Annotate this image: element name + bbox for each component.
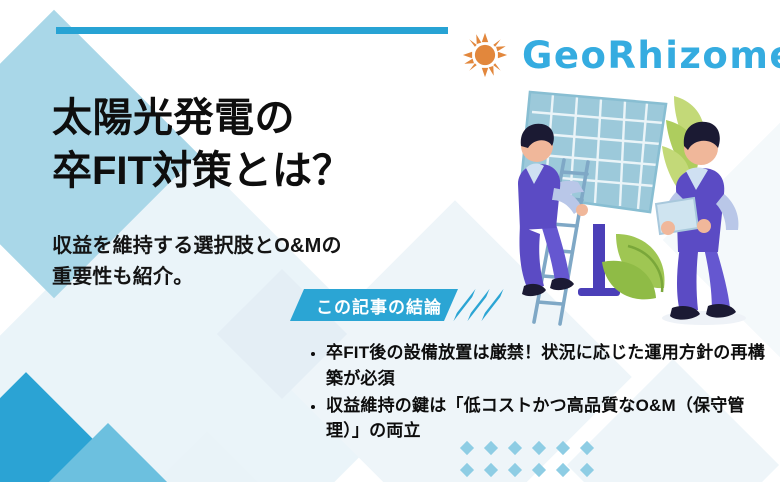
badge-slash-icon: [468, 289, 490, 321]
sun-icon: [462, 32, 508, 78]
conclusion-badge-label: この記事の結論: [290, 289, 458, 321]
decor-dot: [580, 441, 594, 455]
decor-dot: [532, 441, 546, 455]
badge-slash-icon: [454, 289, 476, 321]
page-title: 太陽光発電の 卒FIT対策とは？: [52, 92, 352, 198]
list-item: 収益維持の鍵は「低コストかつ高品質なO&M（保守管理）」の両立: [326, 393, 768, 445]
decor-dot: [556, 441, 570, 455]
page-title-line1: 太陽光発電の: [52, 92, 352, 145]
decor-dot-grid: [462, 443, 606, 482]
slide-canvas: GeoRhizome 太陽光発電の 卒FIT対策とは？ 収益を維持する選択肢とO…: [0, 0, 780, 482]
decor-diamond-mid-bottomleft: [43, 423, 173, 482]
decor-dot: [484, 441, 498, 455]
brand-logo: GeoRhizome: [462, 32, 780, 78]
decor-dot: [556, 463, 570, 477]
conclusion-list: 卒FIT後の設備放置は厳禁！状況に応じた運用方針の再構築が必須 収益維持の鍵は「…: [306, 340, 768, 445]
header-rule: [56, 27, 448, 34]
decor-diamond-strong-bottomleft: [0, 372, 94, 482]
list-item: 卒FIT後の設備放置は厳禁！状況に応じた運用方針の再構築が必須: [326, 340, 768, 392]
solar-maintenance-illustration: [498, 76, 770, 338]
page-subtitle: 収益を維持する選択肢とO&Mの 重要性も紹介。: [52, 231, 342, 293]
page-subtitle-line1: 収益を維持する選択肢とO&Mの: [52, 231, 342, 262]
badge-slash-group: [460, 289, 497, 321]
decor-dot: [580, 463, 594, 477]
decor-dot: [532, 463, 546, 477]
conclusion-badge: この記事の結論: [290, 289, 497, 321]
decor-dot: [460, 463, 474, 477]
logo-wordmark: GeoRhizome: [522, 37, 780, 74]
decor-dot: [508, 463, 522, 477]
page-title-line2: 卒FIT対策とは？: [52, 145, 352, 198]
decor-dot: [508, 441, 522, 455]
decor-dot: [460, 441, 474, 455]
decor-diamond-pale-bottomleft: [129, 431, 285, 482]
decor-dot: [484, 463, 498, 477]
